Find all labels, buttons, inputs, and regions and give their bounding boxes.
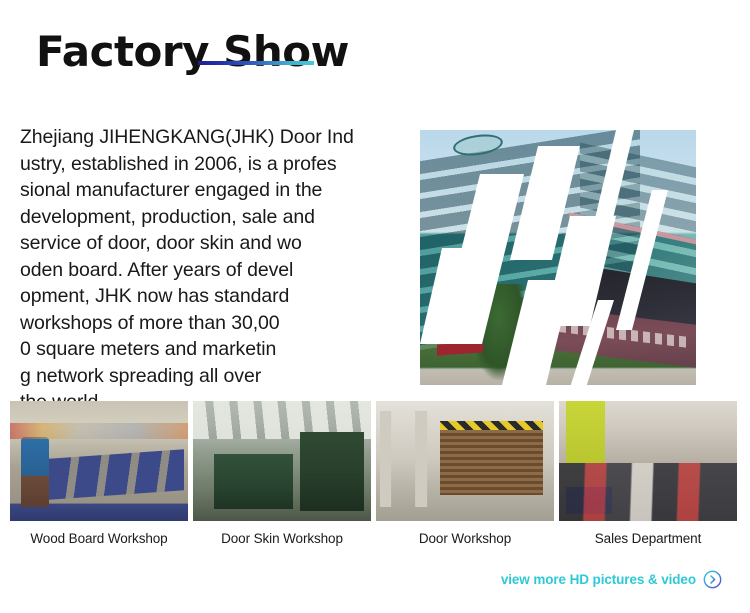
factory-hero-image	[420, 130, 696, 385]
company-intro-paragraph: Zhejiang JIHENGKANG(JHK) Door Ind ustry,…	[20, 124, 440, 416]
view-more-link-label: view more HD pictures & video	[501, 572, 696, 587]
photo-detail-layer	[10, 423, 188, 440]
workshop-thumbnail-row: Wood Board Workshop Door Skin Workshop D…	[10, 401, 740, 547]
page-title: Factory Show	[36, 30, 456, 74]
tree-foliage	[470, 284, 528, 380]
door-workshop-photo[interactable]	[376, 401, 554, 521]
photo-detail-layer	[380, 411, 441, 507]
thumbnail-caption: Sales Department	[559, 531, 737, 547]
thumbnail-item-wood-board-workshop[interactable]: Wood Board Workshop	[10, 401, 188, 547]
sales-department-photo[interactable]	[559, 401, 737, 521]
factory-building-photo	[420, 130, 696, 385]
chevron-right-circle-icon[interactable]	[703, 570, 722, 589]
wood-board-workshop-photo[interactable]	[10, 401, 188, 521]
page-header: Factory Show	[36, 30, 456, 74]
thumbnail-item-sales-department[interactable]: Sales Department	[559, 401, 737, 547]
door-skin-workshop-photo[interactable]	[193, 401, 371, 521]
thumbnail-item-door-skin-workshop[interactable]: Door Skin Workshop	[193, 401, 371, 547]
thumbnail-caption: Door Skin Workshop	[193, 531, 371, 547]
title-underline-rule	[198, 61, 314, 65]
thumbnail-item-door-workshop[interactable]: Door Workshop	[376, 401, 554, 547]
view-more-hd-pictures-video-link[interactable]: view more HD pictures & video	[501, 570, 722, 589]
thumbnail-caption: Door Workshop	[376, 531, 554, 547]
photo-detail-layer	[566, 487, 612, 513]
thumbnail-caption: Wood Board Workshop	[10, 531, 188, 547]
photo-detail-layer	[214, 454, 292, 509]
